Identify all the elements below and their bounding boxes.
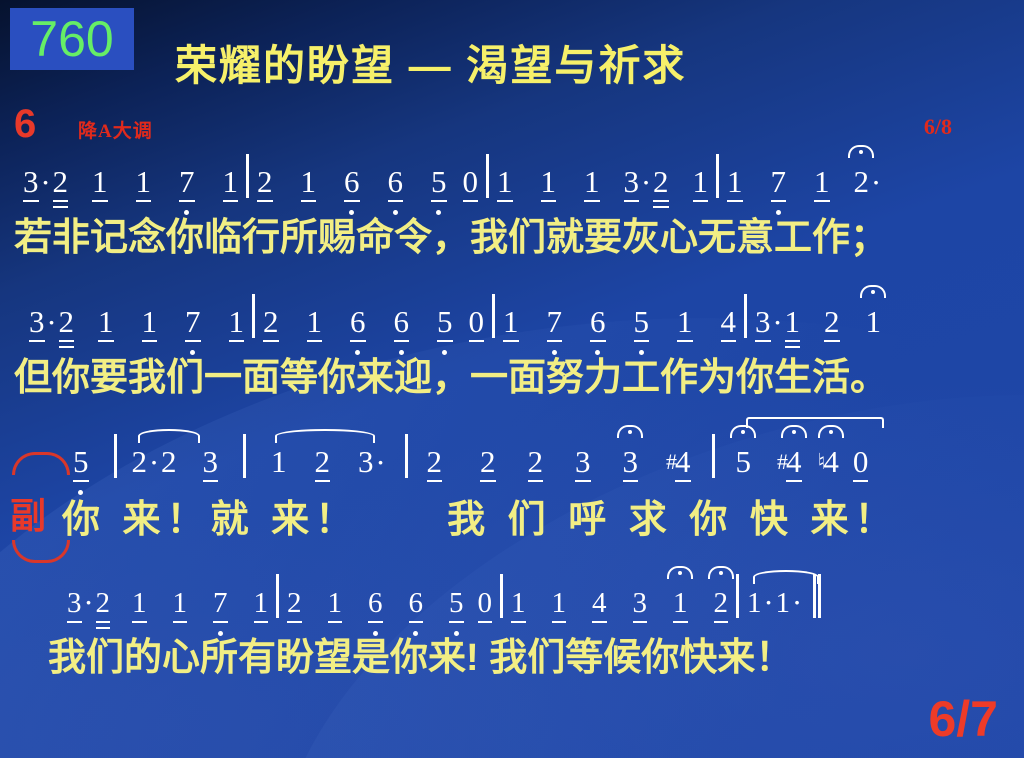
note: 6	[387, 164, 405, 200]
note: 1	[672, 586, 689, 620]
note: 3	[28, 304, 46, 340]
note: 1	[135, 164, 153, 200]
note: 2	[823, 304, 841, 340]
barline	[712, 434, 715, 478]
final-barline	[813, 574, 816, 618]
barline	[492, 294, 495, 338]
note: 2	[479, 444, 497, 480]
fermata-icon	[818, 425, 844, 438]
fermata-icon	[708, 566, 734, 579]
barline	[246, 154, 249, 198]
hymn-number-badge: 760	[10, 8, 134, 70]
note: 1	[502, 304, 520, 340]
note: 3	[574, 444, 592, 480]
note: 3	[623, 164, 641, 200]
note: 1	[583, 164, 601, 200]
note: 4	[591, 586, 608, 620]
note: 1	[540, 164, 558, 200]
notation-row-3: 5 2 · 2 3 1 2 3 · 2 2 2 3 3	[0, 432, 1024, 480]
note: 3	[622, 444, 640, 480]
page-title: 荣耀的盼望 — 渴望与祈求	[175, 32, 686, 93]
note: 3	[754, 304, 772, 340]
lyrics-row-2: 但你要我们一面等你来迎，一面努力工作为你生活。	[0, 346, 1024, 401]
note: 1	[692, 164, 710, 200]
note: 7	[184, 304, 202, 340]
rest: 0	[468, 304, 486, 340]
notation-row-1: 3 · 2 1 1 7 1 2 1 6 6 5 0 1 1	[0, 152, 1024, 200]
note: 1	[496, 164, 514, 200]
note: 3	[632, 586, 649, 620]
note: 1	[746, 586, 763, 620]
note: 7	[770, 164, 788, 200]
barline	[114, 434, 117, 478]
note: 1	[222, 164, 240, 200]
note: 4	[720, 304, 738, 340]
fermata-icon	[781, 425, 807, 438]
note: 2	[314, 444, 332, 480]
barline	[243, 434, 246, 478]
note: 1	[300, 164, 318, 200]
note: 1	[510, 586, 527, 620]
barline	[252, 294, 255, 338]
page-indicator: 6/7	[928, 690, 998, 748]
fermata-icon	[730, 425, 756, 438]
note: 3	[202, 444, 220, 480]
note: 5	[430, 164, 448, 200]
music-system-4: 3 · 2 1 1 7 1 2 1 6 6 5 0 1 1	[0, 572, 1024, 681]
slur	[138, 429, 200, 443]
note: 7	[178, 164, 196, 200]
rest: 0	[462, 164, 480, 200]
note: 5	[436, 304, 454, 340]
fermata-icon	[617, 425, 643, 438]
music-system-1: 3 · 2 1 1 7 1 2 1 6 6 5 0 1 1	[0, 152, 1024, 261]
augmentation-dot: ·	[40, 166, 52, 200]
note: 1	[775, 586, 792, 620]
note: 6	[589, 304, 607, 340]
note: 1	[228, 304, 246, 340]
fermata-icon	[848, 145, 874, 158]
note: 2	[713, 586, 730, 620]
lyrics-row-3: 你 来！就 来！ 我 们 呼 求 你 快 来！	[0, 488, 1024, 543]
augmentation-dot: ·	[640, 166, 652, 200]
augmentation-dot: ·	[763, 586, 775, 620]
note: 1	[253, 586, 270, 620]
note: 1	[306, 304, 324, 340]
note: 1	[813, 164, 831, 200]
final-barline	[818, 574, 821, 618]
note: 2	[256, 164, 274, 200]
augmentation-dot: ·	[375, 446, 387, 480]
hymn-number: 760	[30, 14, 113, 64]
rest: 0	[852, 444, 870, 480]
note: 6	[393, 304, 411, 340]
barline	[744, 294, 747, 338]
note: 7	[546, 304, 564, 340]
slide-canvas: 760 荣耀的盼望 — 渴望与祈求 6 降A大调 6/8 3 · 2 1 1 7…	[0, 0, 1024, 758]
note: 1	[270, 444, 288, 480]
note: 1	[676, 304, 694, 340]
note: 5	[72, 444, 90, 480]
chorus-bracket-bottom	[12, 540, 70, 563]
note: 1	[865, 304, 883, 340]
note: 1	[131, 586, 148, 620]
note: 1	[172, 586, 189, 620]
note: 2	[95, 586, 112, 620]
notation-row-4: 3 · 2 1 1 7 1 2 1 6 6 5 0 1 1	[0, 572, 1024, 620]
note: 7	[212, 586, 229, 620]
time-signature: 6/8	[924, 114, 952, 140]
note: 6	[349, 304, 367, 340]
note: 2	[131, 444, 149, 480]
note: 5	[633, 304, 651, 340]
note: #4	[665, 444, 692, 480]
fermata-icon	[860, 285, 886, 298]
music-system-3: 5 2 · 2 3 1 2 3 · 2 2 2 3 3	[0, 432, 1024, 543]
note: 1	[726, 164, 744, 200]
barline	[276, 574, 279, 618]
note: 6	[367, 586, 384, 620]
augmentation-dot: ·	[791, 586, 803, 620]
note: 2	[853, 164, 871, 200]
note: 1	[91, 164, 109, 200]
note: 1	[551, 586, 568, 620]
note: 2	[160, 444, 178, 480]
fermata-icon	[667, 566, 693, 579]
note: 5	[448, 586, 465, 620]
augmentation-dot: ·	[46, 306, 58, 340]
rest: 0	[477, 586, 494, 620]
note: 1	[141, 304, 159, 340]
augmentation-dot: ·	[870, 166, 882, 200]
note: 6	[343, 164, 361, 200]
note: 2	[426, 444, 444, 480]
note: ♮4	[817, 444, 840, 480]
note: 1	[784, 304, 802, 340]
note: 3	[22, 164, 40, 200]
slur	[275, 429, 375, 443]
barline	[500, 574, 503, 618]
note: 2	[652, 164, 670, 200]
notation-row-2: 3 · 2 1 1 7 1 2 1 6 6 5 0 1 7	[0, 292, 1024, 340]
lyrics-row-1: 若非记念你临行所赐命令，我们就要灰心无意工作；	[0, 206, 1024, 261]
note: 2	[286, 586, 303, 620]
note: 6	[408, 586, 425, 620]
note: 2	[527, 444, 545, 480]
note: 3	[66, 586, 83, 620]
note: 2	[52, 164, 70, 200]
phrase-bracket	[746, 417, 884, 428]
key-signature: 降A大调	[78, 116, 153, 143]
note: 3	[357, 444, 375, 480]
note: #4	[776, 444, 803, 480]
note: 5	[735, 444, 753, 480]
barline	[736, 574, 739, 618]
barline	[486, 154, 489, 198]
barline	[716, 154, 719, 198]
note: 1	[327, 586, 344, 620]
note: 2	[58, 304, 76, 340]
augmentation-dot: ·	[148, 446, 160, 480]
augmentation-dot: ·	[83, 586, 95, 620]
note: 2	[262, 304, 280, 340]
barline	[405, 434, 408, 478]
verse-marker: 6	[14, 104, 36, 144]
music-system-2: 3 · 2 1 1 7 1 2 1 6 6 5 0 1 7	[0, 292, 1024, 401]
note: 1	[97, 304, 115, 340]
augmentation-dot: ·	[772, 306, 784, 340]
slur	[753, 570, 819, 584]
lyrics-row-4: 我们的心所有盼望是你来! 我们等候你快来！	[0, 626, 1024, 681]
